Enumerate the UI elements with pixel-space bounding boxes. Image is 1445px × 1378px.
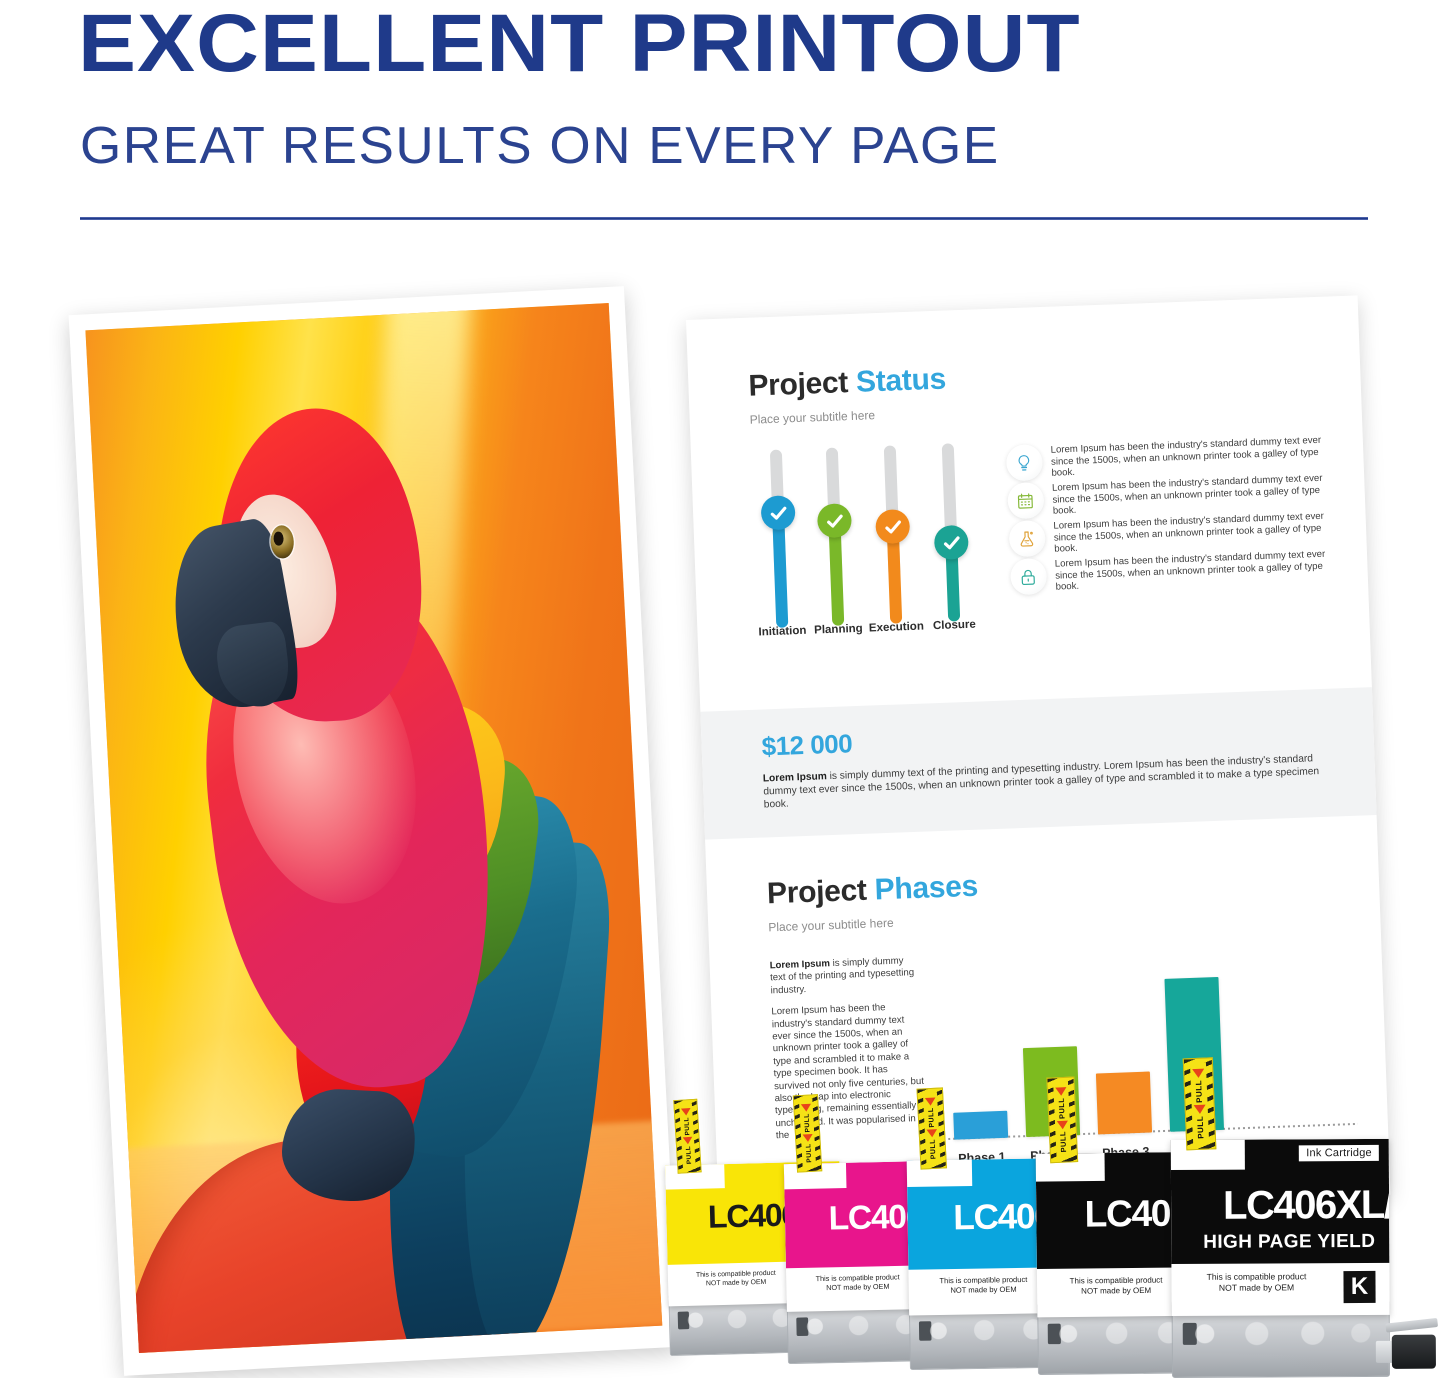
pull-tab[interactable]: PULLPULL <box>1183 1057 1217 1150</box>
status-title-accent: Status <box>855 363 946 399</box>
cartridge-disclaimer: This is compatible productNOT made by OE… <box>917 1275 1049 1296</box>
cartridge-chip <box>919 1321 932 1341</box>
phase-sliders: Initiation Planning <box>751 442 1006 681</box>
pull-tab[interactable]: PULLPULL <box>1046 1077 1078 1164</box>
printed-document: Project Status Place your subtitle here … <box>686 295 1391 1219</box>
cartridge-yield: HIGH PAGE YIELD <box>1203 1231 1375 1254</box>
pull-arrow-icon <box>1194 1105 1206 1114</box>
phases-title-lead: Project <box>766 874 867 911</box>
page-title: EXCELLENT PRINTOUT <box>78 2 1445 86</box>
status-section: Project Status Place your subtitle here … <box>686 295 1372 711</box>
budget-text-lead: Lorem Ipsum <box>763 771 827 784</box>
printed-photo <box>69 286 680 1376</box>
pull-arrow-icon <box>801 1104 811 1112</box>
slider-thumb-check-icon <box>875 509 910 544</box>
lock-icon <box>1010 558 1047 595</box>
status-title-lead: Project <box>748 366 849 403</box>
cartridge-disclaimer: This is compatible productNOT made by OE… <box>1181 1271 1331 1294</box>
pull-tab[interactable]: PULLPULL <box>793 1094 822 1173</box>
slider-planning: Planning <box>809 447 855 449</box>
cartridge-model: LC406XL/LC406 <box>1223 1182 1390 1228</box>
lightbulb-icon <box>1005 444 1042 481</box>
status-body: Initiation Planning <box>751 429 1339 680</box>
phases-copy-lead: Lorem Ipsum <box>770 958 831 971</box>
divider <box>80 217 1368 220</box>
pull-arrow-icon <box>1057 1121 1069 1130</box>
cartridge-disclaimer: This is compatible productNOT made by OE… <box>676 1268 796 1289</box>
nozzle-arm <box>1385 1318 1438 1333</box>
disclaimer-line-2: NOT made by OEM <box>795 1281 921 1293</box>
cartridge-chip <box>1048 1324 1061 1345</box>
phases-copy-first: Lorem Ipsum is simply dummy text of the … <box>770 955 921 998</box>
pull-arrow-icon <box>1192 1069 1204 1078</box>
page-subtitle: GREAT RESULTS ON EVERY PAGE <box>80 118 1304 174</box>
slider-label: Initiation <box>758 625 806 639</box>
pull-arrow-icon <box>925 1097 936 1105</box>
disclaimer-line-2: NOT made by OEM <box>676 1277 796 1289</box>
slider-thumb-check-icon <box>934 525 969 560</box>
cartridge-chip <box>678 1311 690 1329</box>
pull-label: PULL <box>928 1139 937 1160</box>
pull-label: PULL <box>684 1146 692 1165</box>
slider-thumb-check-icon <box>817 503 852 538</box>
ink-cartridge[interactable]: Ink CartridgeLC406XL/LC406HIGH PAGE YIEL… <box>1171 1127 1390 1378</box>
photo-image <box>85 303 662 1353</box>
pull-arrow-icon <box>1055 1087 1067 1096</box>
cartridge-label: Ink CartridgeLC406XL/LC406HIGH PAGE YIEL… <box>1171 1139 1390 1316</box>
pull-label: PULL <box>927 1107 936 1128</box>
pull-label: PULL <box>1057 1097 1066 1119</box>
disclaimer-line-2: NOT made by OEM <box>917 1284 1049 1296</box>
pull-tab-inner: PULLPULL <box>1190 1063 1209 1146</box>
cartridge-disclaimer: This is compatible productNOT made by OE… <box>1046 1275 1186 1297</box>
slider-thumb-check-icon <box>761 495 796 530</box>
cartridge-kind-badge: Ink Cartridge <box>1299 1145 1379 1161</box>
pull-tab[interactable]: PULLPULL <box>916 1087 946 1169</box>
slider-label: Planning <box>814 623 863 637</box>
flask-icon <box>1008 520 1045 557</box>
parrot-illustration <box>173 375 661 1318</box>
cartridge-nozzle <box>1376 1325 1442 1371</box>
pull-arrow-icon <box>681 1108 691 1116</box>
phases-title-accent: Phases <box>874 870 978 907</box>
slider-label: Closure <box>933 619 976 633</box>
slider-initiation: Initiation <box>753 449 799 451</box>
calendar-icon <box>1007 482 1044 519</box>
cartridge-color-code: K <box>1343 1271 1375 1303</box>
budget-text-body: is simply dummy text of the printing and… <box>763 753 1319 810</box>
disclaimer-line-1: This is compatible product <box>1181 1271 1331 1283</box>
budget-band: $12 000 Lorem Ipsum is simply dummy text… <box>700 687 1376 840</box>
pull-label: PULL <box>803 1113 812 1133</box>
budget-text: Lorem Ipsum is simply dummy text of the … <box>763 752 1336 812</box>
slider-execution: Execution <box>867 445 913 447</box>
pull-arrow-icon <box>803 1134 813 1142</box>
pull-label: PULL <box>804 1143 813 1163</box>
pull-label: PULL <box>683 1117 691 1136</box>
nozzle-black-part <box>1392 1335 1436 1369</box>
pull-label: PULL <box>1194 1080 1204 1103</box>
pull-label: PULL <box>1196 1116 1206 1139</box>
pull-tab[interactable]: PULLPULL <box>673 1099 701 1174</box>
pull-arrow-icon <box>927 1129 938 1137</box>
slider-closure: Closure <box>925 443 971 445</box>
cartridge-chip <box>796 1317 808 1336</box>
feature-list: Lorem Ipsum has been the industry's stan… <box>1005 429 1339 671</box>
cartridge-disclaimer: This is compatible productNOT made by OE… <box>795 1272 921 1293</box>
disclaimer-line-2: NOT made by OEM <box>1046 1285 1186 1297</box>
slider-label: Execution <box>869 620 924 634</box>
headline-block: EXCELLENT PRINTOUT GREAT RESULTS ON EVER… <box>0 0 1445 240</box>
pull-label: PULL <box>1059 1131 1068 1153</box>
feature-text: Lorem Ipsum has been the industry's stan… <box>1055 547 1336 593</box>
pull-arrow-icon <box>683 1137 693 1145</box>
ink-cartridge-group: LC406XL/LC406This is compatible productN… <box>660 1108 1445 1378</box>
disclaimer-line-2: NOT made by OEM <box>1182 1282 1332 1294</box>
cartridge-chip <box>1183 1323 1197 1345</box>
